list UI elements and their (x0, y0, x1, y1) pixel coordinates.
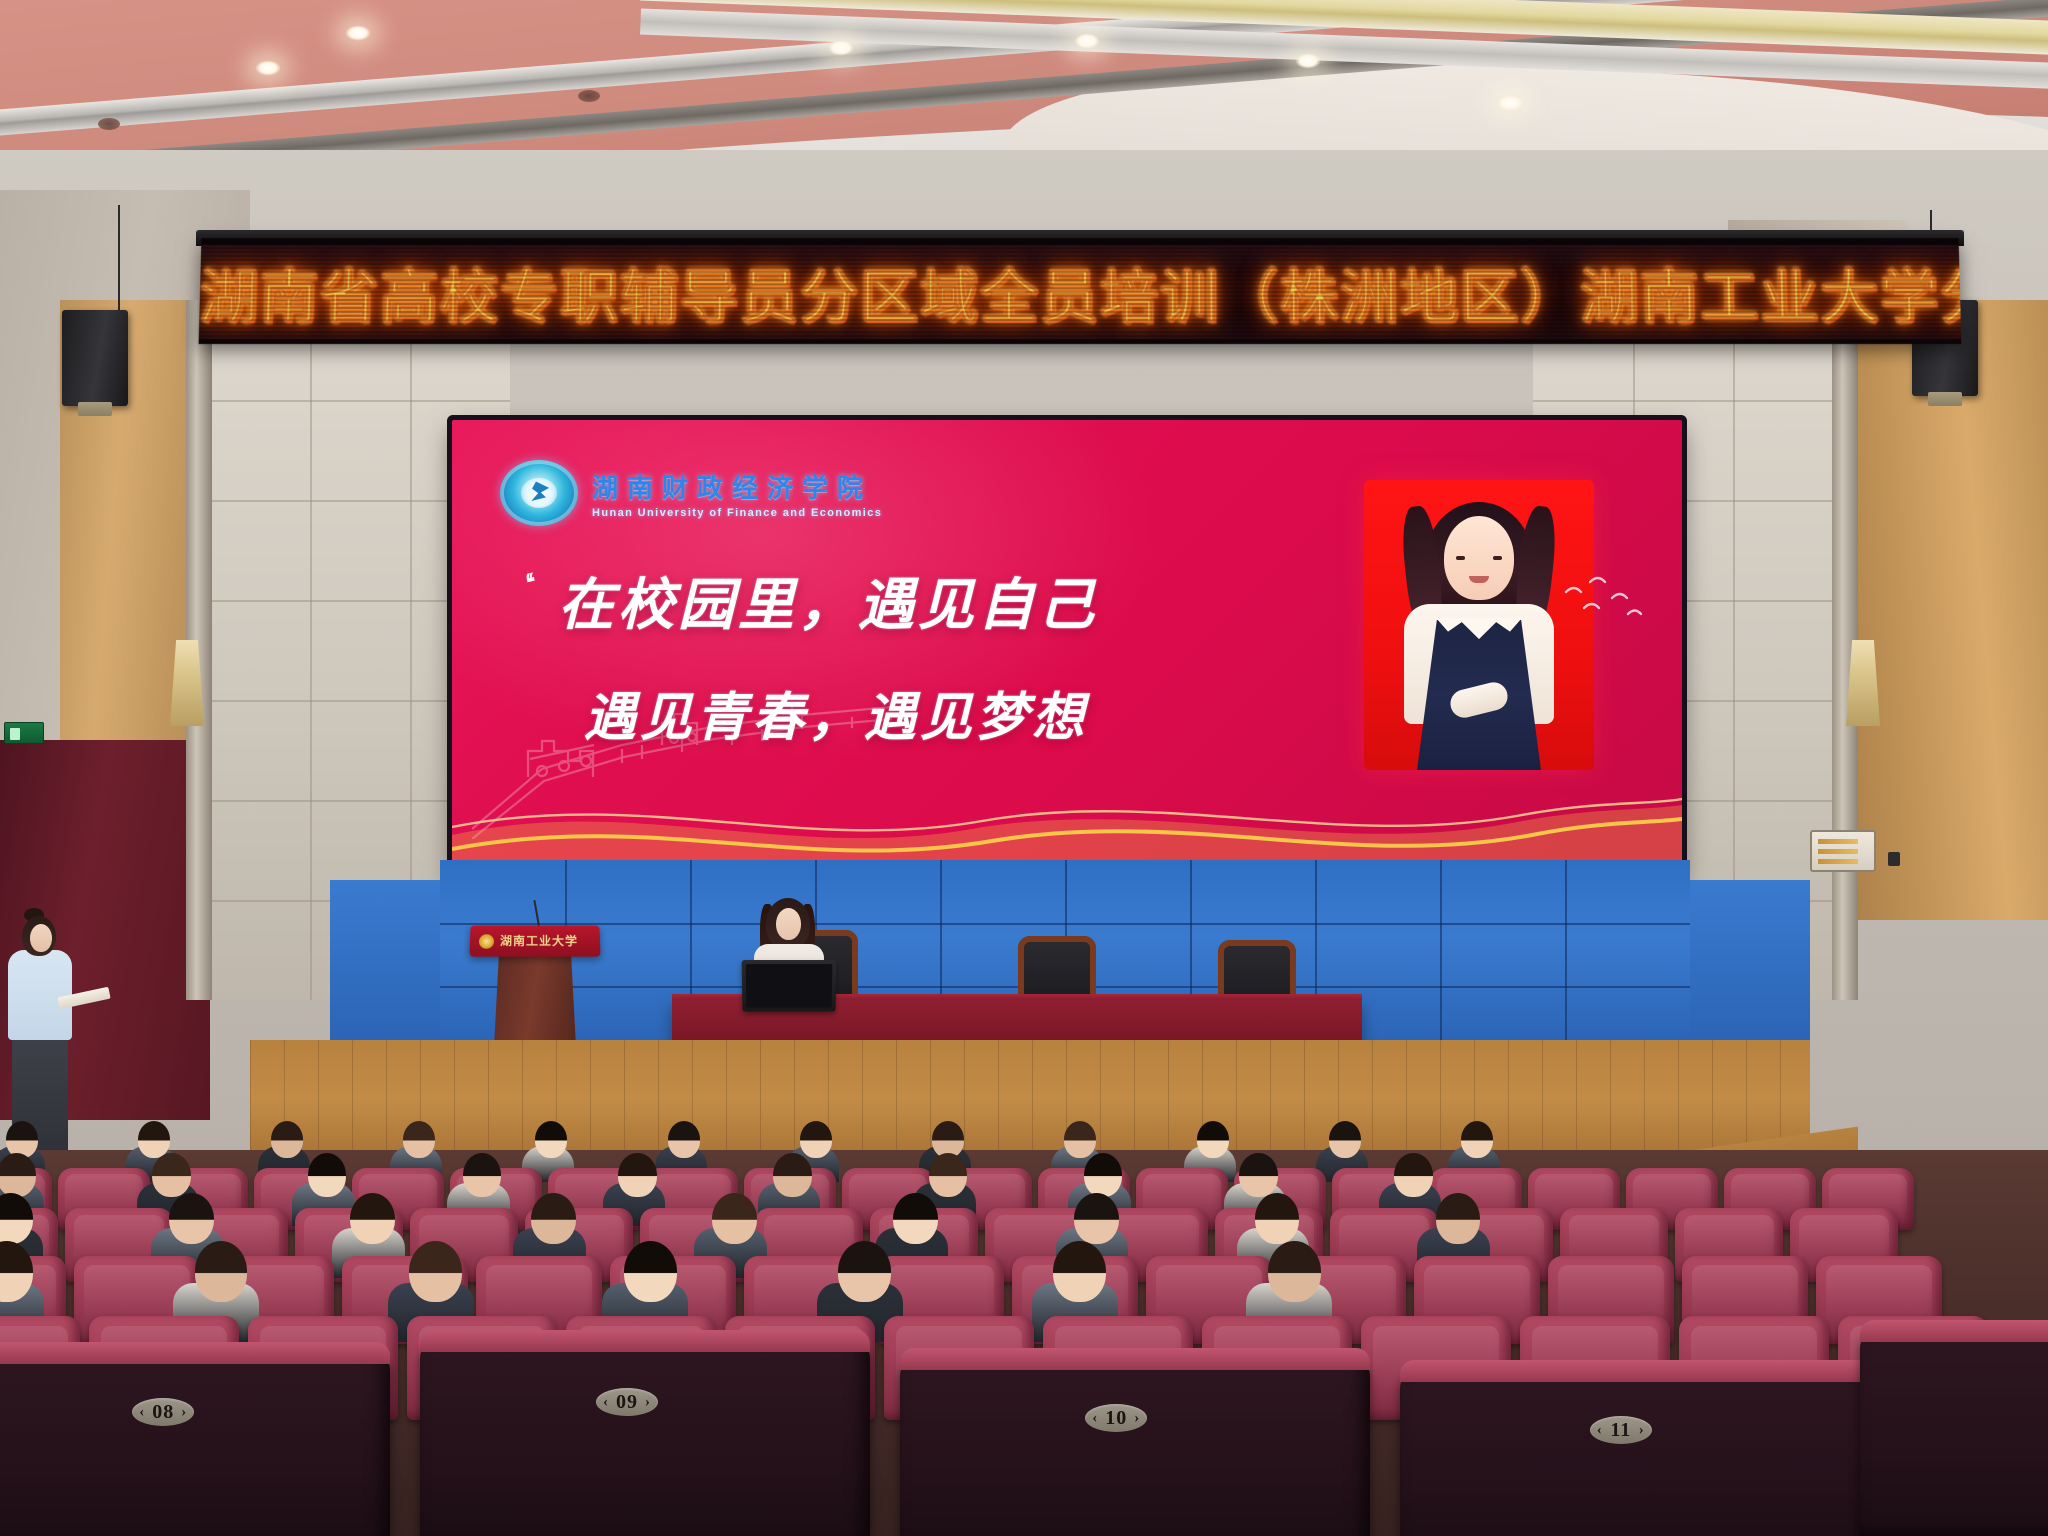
audience-member-head (535, 1121, 567, 1158)
audience-member-head (1084, 1153, 1122, 1197)
audience-member-head (929, 1153, 967, 1197)
audience-member-head (271, 1121, 303, 1158)
audience-member-head (403, 1121, 435, 1158)
front-seat[interactable] (1860, 1330, 2048, 1536)
audience-member-head (773, 1153, 811, 1197)
audience-member-head (1239, 1153, 1277, 1197)
audience-member-head (0, 1153, 36, 1197)
audience-member (0, 1241, 56, 1327)
podium-emblem-icon (479, 934, 494, 949)
audience-member-head (1074, 1193, 1119, 1245)
audience-member (456, 1153, 518, 1215)
audience-member-head (350, 1193, 395, 1245)
seat-number-badge: 08 (132, 1398, 194, 1426)
slide-headline-group: 在校园里，遇见自己 遇见青春，遇见梦想 (542, 560, 1242, 750)
auditorium-photo: 湖南省高校专职辅导员分区域全员培训（株洲地区）湖南工业大学分会场 (0, 0, 2048, 1536)
audience-member-head (1436, 1193, 1481, 1245)
ceiling-vent-2 (98, 118, 120, 130)
audience-member-head (1255, 1193, 1300, 1245)
seat-number-badge: 11 (1590, 1416, 1652, 1444)
audience-member-head (1197, 1121, 1229, 1158)
audience-member (185, 1241, 271, 1327)
downlight-4 (1074, 33, 1100, 49)
birds-illustration (1560, 570, 1650, 630)
audience-member-head (1329, 1121, 1361, 1158)
exit-sign-icon (4, 722, 44, 744)
led-banner: 湖南省高校专职辅导员分区域全员培训（株洲地区）湖南工业大学分会场 (199, 238, 1962, 344)
audience-member (829, 1241, 915, 1327)
laptop (742, 960, 837, 1011)
audience-member-head (1268, 1241, 1321, 1302)
standing-person-face (30, 924, 52, 952)
audience-member (399, 1241, 485, 1327)
front-seat-cushion (0, 1342, 390, 1364)
school-seal-icon (500, 460, 578, 526)
slide-gold-ribbon (452, 765, 1682, 875)
audience-member-head (838, 1241, 891, 1302)
front-seat-cushion (420, 1330, 870, 1352)
loudspeaker-right-base (1928, 392, 1962, 406)
audience-member (1323, 1121, 1375, 1173)
downlight-5 (1295, 53, 1321, 69)
slide-content: 湖南财政经济学院 Hunan University of Finance and… (452, 420, 1682, 875)
podium-label: 湖南工业大学 (500, 932, 594, 948)
audience-member (397, 1121, 449, 1173)
audience-member (529, 1121, 581, 1173)
speaker-face (776, 908, 801, 940)
presentation-screen: 湖南财政经济学院 Hunan University of Finance and… (452, 420, 1682, 875)
ceiling-vent-1 (578, 90, 600, 102)
slide-headline-line2: 遇见青春，遇见梦想 (542, 675, 1242, 750)
slide-headline-line1: 在校园里，遇见自己 (542, 560, 1242, 641)
school-name-cn: 湖南财政经济学院 (592, 468, 882, 505)
audience-member (611, 1153, 673, 1215)
stage-wall-panel-left (330, 880, 448, 1050)
downlight-1 (255, 60, 281, 76)
audience-member (523, 1193, 596, 1266)
front-seat[interactable] (0, 1352, 390, 1536)
audience-member-head (1053, 1241, 1106, 1302)
audience-member-head (1461, 1121, 1493, 1158)
audience-member (1455, 1121, 1507, 1173)
loudspeaker-left (62, 310, 128, 406)
loudspeaker-left-base (78, 402, 112, 416)
podium: 湖南工业大学 (469, 926, 600, 957)
stage-wall-panel-right (1680, 880, 1810, 1050)
audience-member-head (463, 1153, 501, 1197)
front-seat-cushion (1400, 1360, 1880, 1382)
wall-control-panel[interactable] (1810, 830, 1876, 872)
audience-member-head (624, 1241, 677, 1302)
front-seat-cushion (900, 1348, 1370, 1370)
audience-member-head (712, 1193, 757, 1245)
audience-member-head (308, 1153, 346, 1197)
audience-member-head (169, 1193, 214, 1245)
audience-member (704, 1193, 777, 1266)
audience-member-head (893, 1193, 938, 1245)
led-banner-text: 湖南省高校专职辅导员分区域全员培训（株洲地区）湖南工业大学分会场 (199, 250, 1961, 334)
audience-member-head (1394, 1153, 1432, 1197)
front-seat[interactable] (900, 1358, 1370, 1536)
audience-member-head (152, 1153, 190, 1197)
downlight-3 (828, 40, 854, 56)
wall-jack (1888, 852, 1900, 866)
audience-member-head (409, 1241, 462, 1302)
slide-school-logo: 湖南财政经济学院 Hunan University of Finance and… (500, 460, 882, 526)
standing-person-blouse (8, 950, 72, 1040)
audience-member-head (618, 1153, 656, 1197)
portrait-face (1444, 516, 1514, 600)
audience-member (1043, 1241, 1129, 1327)
front-seat-cushion (1860, 1320, 2048, 1342)
audience-member-head (531, 1193, 576, 1245)
school-name-en: Hunan University of Finance and Economic… (592, 507, 882, 519)
audience-member (1258, 1241, 1344, 1327)
audience-member (1427, 1193, 1500, 1266)
downlight-2 (345, 25, 371, 41)
downlight-6 (1497, 95, 1523, 111)
front-seat[interactable] (420, 1340, 870, 1536)
seat-number-badge: 10 (1085, 1404, 1147, 1432)
audience-member-head (195, 1241, 248, 1302)
front-seat[interactable] (1400, 1370, 1880, 1536)
seat-number-badge: 09 (596, 1388, 658, 1416)
audience-member (614, 1241, 700, 1327)
